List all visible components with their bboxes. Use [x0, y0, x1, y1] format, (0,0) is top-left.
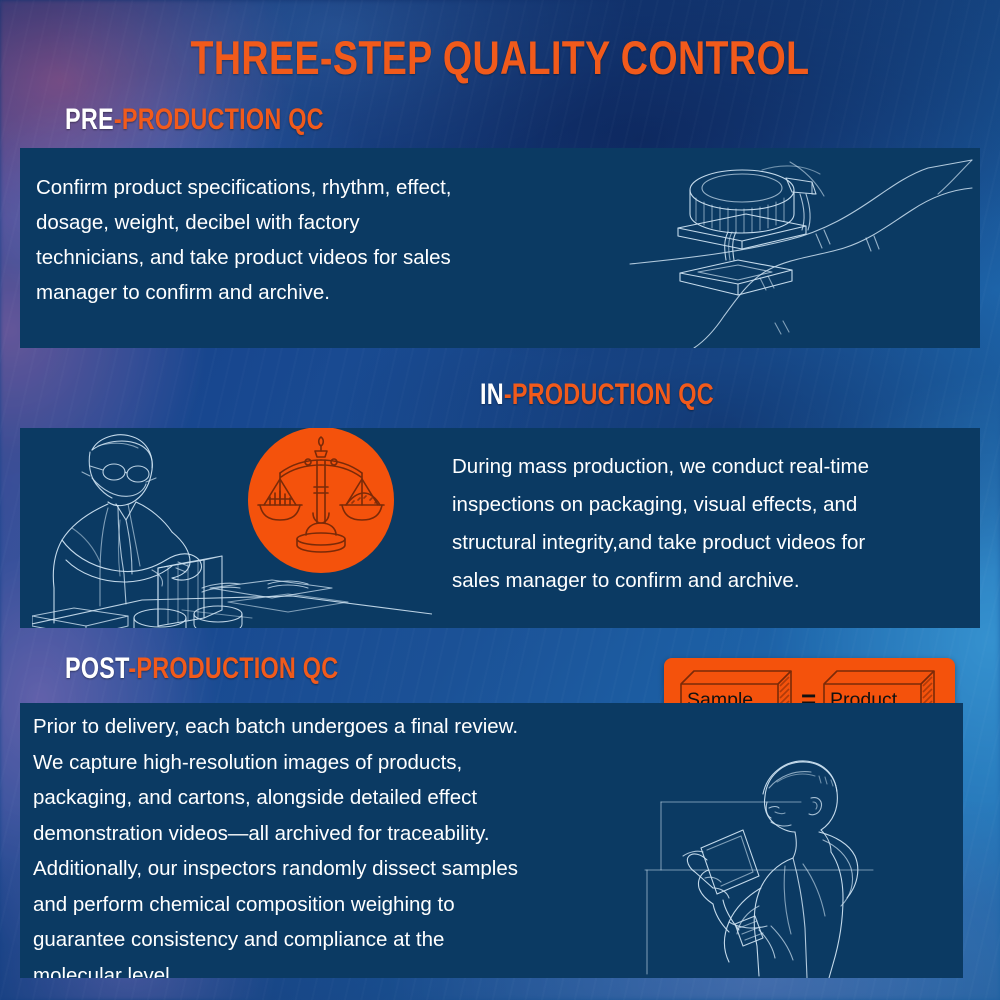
heading-white-part: IN	[480, 378, 504, 411]
heading-orange-part: -PRODUCTION QC	[128, 652, 338, 685]
body-text-in-production: During mass production, we conduct real-…	[452, 448, 980, 600]
section-heading-post-production: POST-PRODUCTION QC	[65, 652, 338, 686]
section-heading-pre-production: PRE-PRODUCTION QC	[65, 103, 324, 137]
page-title: THREE-STEP QUALITY CONTROL	[100, 30, 900, 85]
panel-post-production: Prior to delivery, each batch undergoes …	[20, 703, 963, 978]
panel-pre-production: Confirm product specifications, rhythm, …	[20, 148, 980, 348]
panel-in-production: During mass production, we conduct real-…	[20, 428, 980, 628]
section-heading-in-production: IN-PRODUCTION QC	[480, 378, 714, 412]
balance-scale-badge	[248, 428, 394, 573]
heading-white-part: POST	[65, 652, 128, 685]
heading-white-part: PRE	[65, 103, 114, 136]
hand-holding-measuring-device-sketch	[620, 148, 980, 348]
heading-orange-part: -PRODUCTION QC	[504, 378, 714, 411]
infographic-canvas: THREE-STEP QUALITY CONTROL PRE-PRODUCTIO…	[0, 0, 1000, 1000]
body-text-post-production: Prior to delivery, each batch undergoes …	[33, 709, 663, 978]
body-text-pre-production: Confirm product specifications, rhythm, …	[36, 170, 596, 310]
inspector-with-clipboard-sketch	[643, 748, 943, 978]
heading-orange-part: -PRODUCTION QC	[114, 103, 324, 136]
balance-scale-icon	[248, 428, 394, 573]
